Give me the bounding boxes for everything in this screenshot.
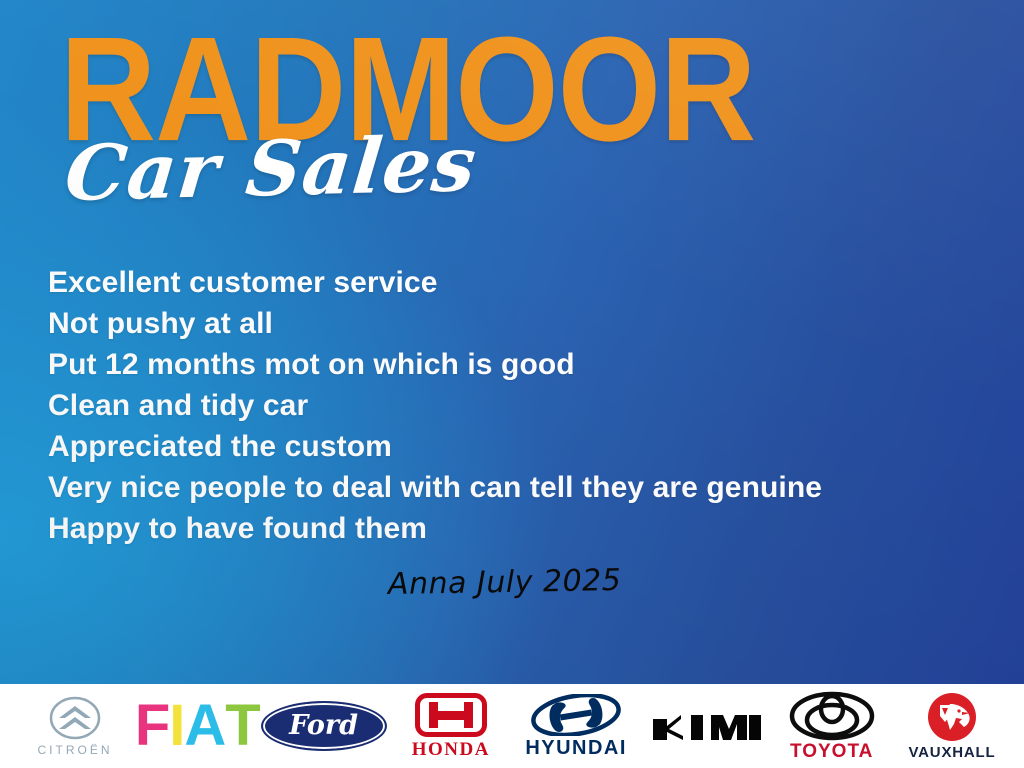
ford-wordmark: Ford — [289, 710, 358, 741]
brand-tagline-car-sales: Car Sales — [62, 126, 480, 212]
review-line: Appreciated the custom — [48, 426, 978, 467]
honda-h-icon — [415, 693, 487, 737]
honda-logo: HONDA — [397, 690, 505, 762]
fiat-wordmark: F I A T — [135, 701, 260, 751]
hyundai-h-oval-icon — [530, 694, 622, 736]
manufacturer-logo-strip: CITROËN F I A T Ford HONDA — [0, 684, 1024, 768]
honda-h-crossbar — [429, 711, 473, 720]
toyota-logo: TOYOTA — [778, 690, 886, 762]
honda-wordmark: HONDA — [412, 740, 490, 759]
review-line: Very nice people to deal with can tell t… — [48, 467, 978, 508]
fiat-letter-i: I — [169, 701, 184, 751]
vauxhall-logo: VAUXHALL — [896, 690, 1008, 762]
citroen-wordmark: CITROËN — [38, 744, 113, 756]
fiat-letter-a: A — [184, 701, 225, 751]
fiat-letter-f: F — [135, 701, 169, 751]
fiat-letter-t: T — [225, 701, 259, 751]
hyundai-wordmark: HYUNDAI — [525, 738, 627, 758]
citroen-chevron-icon — [47, 696, 103, 740]
review-line: Not pushy at all — [48, 303, 978, 344]
review-line: Put 12 months mot on which is good — [48, 344, 978, 385]
hyundai-logo: HYUNDAI — [515, 690, 637, 762]
kia-logo — [647, 690, 767, 762]
vauxhall-wordmark: VAUXHALL — [908, 745, 995, 760]
toyota-ellipses-icon — [789, 691, 875, 741]
review-line: Clean and tidy car — [48, 385, 978, 426]
blue-gradient-panel: RADMOOR Car Sales Excellent customer ser… — [0, 0, 1024, 684]
ford-oval-icon: Ford — [261, 701, 387, 751]
vauxhall-griffin-icon — [926, 692, 978, 742]
fiat-logo: F I A T — [144, 690, 250, 762]
kia-wordmark-icon — [651, 709, 763, 743]
customer-review-text: Excellent customer service Not pushy at … — [48, 262, 978, 549]
review-line: Excellent customer service — [48, 262, 978, 303]
review-line: Happy to have found them — [48, 508, 978, 549]
review-signature: Anna July 2025 — [388, 563, 622, 602]
dealership-review-poster: RADMOOR Car Sales Excellent customer ser… — [0, 0, 1024, 768]
toyota-wordmark: TOYOTA — [790, 742, 873, 761]
ford-logo: Ford — [261, 690, 387, 762]
citroen-logo: CITROËN — [16, 690, 134, 762]
poster-header: RADMOOR Car Sales — [0, 0, 1024, 240]
